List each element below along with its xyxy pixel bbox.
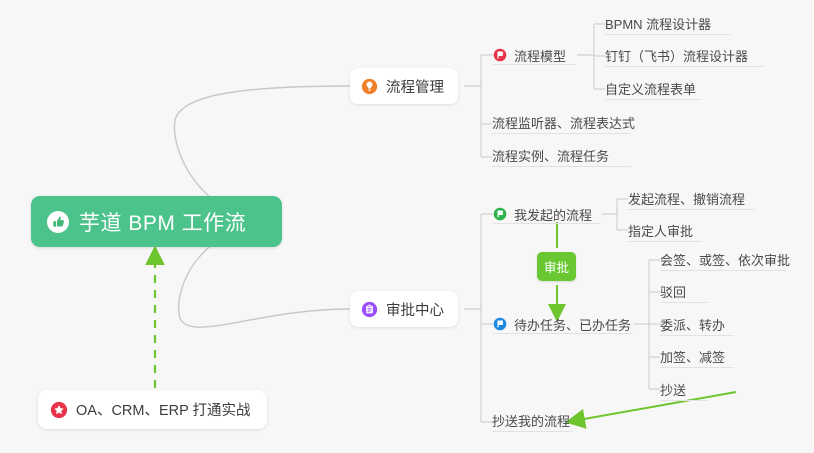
leaf-countersign[interactable]: 会签、或签、依次审批 (660, 250, 790, 268)
leaf-label-todo-done-task: 待办任务、已办任务 (514, 315, 631, 334)
leaf-cc[interactable]: 抄送 (660, 380, 686, 398)
leaf-todo-done-task[interactable]: 待办任务、已办任务 (493, 315, 631, 333)
mindmap-canvas: 芋道 BPM 工作流 流程管理 审批中心 (0, 0, 814, 453)
leaf-process-instance[interactable]: 流程实例、流程任务 (492, 146, 609, 164)
leaf-my-started-process[interactable]: 我发起的流程 (493, 205, 592, 223)
leaf-label-add-remove-sign: 加签、减签 (660, 347, 725, 366)
branch-label-approval-center: 审批中心 (386, 299, 444, 320)
leaf-delegate-transfer[interactable]: 委派、转办 (660, 315, 725, 333)
underline-delegate-transfer (660, 335, 734, 336)
underline-my-started-process (493, 223, 601, 224)
underline-add-remove-sign (660, 367, 734, 368)
underline-start-cancel-process (628, 209, 754, 210)
underline-cc-to-me-process (492, 431, 572, 432)
leaf-label-my-started-process: 我发起的流程 (514, 205, 592, 224)
lightbulb-icon (361, 78, 378, 95)
underline-countersign (660, 270, 786, 271)
underline-dingtalk-designer (605, 66, 764, 67)
thumbs-up-icon (46, 210, 70, 234)
underline-bpmn-designer (605, 34, 730, 35)
leaf-label-assignee-approval: 指定人审批 (628, 221, 693, 240)
root-label: 芋道 BPM 工作流 (79, 207, 246, 237)
leaf-cc-to-me-process[interactable]: 抄送我的流程 (492, 411, 570, 429)
root-node[interactable]: 芋道 BPM 工作流 (31, 196, 282, 247)
note-card-integration[interactable]: OA、CRM、ERP 打通实战 (38, 390, 267, 429)
branch-label-process-management: 流程管理 (386, 76, 444, 97)
flag-icon (493, 317, 507, 331)
underline-process-model (493, 64, 576, 65)
note-label: OA、CRM、ERP 打通实战 (76, 399, 251, 420)
branch-process-management[interactable]: 流程管理 (350, 68, 458, 104)
underline-assignee-approval (628, 241, 702, 242)
branch-approval-center[interactable]: 审批中心 (350, 291, 458, 327)
leaf-label-custom-form: 自定义流程表单 (605, 79, 696, 98)
callout-label: 审批 (544, 257, 569, 276)
leaf-label-reject: 驳回 (660, 282, 686, 301)
clipboard-icon (361, 301, 378, 318)
leaf-process-model[interactable]: 流程模型 (493, 46, 566, 64)
underline-custom-form (605, 99, 700, 100)
leaf-label-countersign: 会签、或签、依次审批 (660, 250, 790, 269)
leaf-custom-form[interactable]: 自定义流程表单 (605, 79, 696, 97)
flag-icon (493, 48, 507, 62)
leaf-label-delegate-transfer: 委派、转办 (660, 315, 725, 334)
arrow-cc-to-cc-process (573, 392, 736, 421)
underline-process-listener (492, 133, 631, 134)
leaf-label-cc: 抄送 (660, 380, 686, 399)
leaf-label-start-cancel-process: 发起流程、撤销流程 (628, 189, 745, 208)
leaf-label-process-model: 流程模型 (514, 46, 566, 65)
callout-approval: 审批 (537, 252, 576, 281)
leaf-bpmn-designer[interactable]: BPMN 流程设计器 (605, 14, 711, 32)
leaf-add-remove-sign[interactable]: 加签、减签 (660, 347, 725, 365)
leaf-assignee-approval[interactable]: 指定人审批 (628, 221, 693, 239)
leaf-start-cancel-process[interactable]: 发起流程、撤销流程 (628, 189, 745, 207)
underline-process-instance (492, 166, 631, 167)
leaf-dingtalk-designer[interactable]: 钉钉（飞书）流程设计器 (605, 46, 748, 64)
leaf-process-listener[interactable]: 流程监听器、流程表达式 (492, 113, 635, 131)
leaf-label-dingtalk-designer: 钉钉（飞书）流程设计器 (605, 46, 748, 65)
leaf-label-cc-to-me-process: 抄送我的流程 (492, 411, 570, 430)
underline-todo-done-task (493, 333, 633, 334)
leaf-reject[interactable]: 驳回 (660, 282, 686, 300)
underline-reject (660, 302, 708, 303)
leaf-label-process-instance: 流程实例、流程任务 (492, 146, 609, 165)
star-icon (50, 401, 68, 419)
leaf-label-bpmn-designer: BPMN 流程设计器 (605, 14, 711, 33)
flag-icon (493, 207, 507, 221)
leaf-label-process-listener: 流程监听器、流程表达式 (492, 113, 635, 132)
underline-cc (660, 400, 708, 401)
